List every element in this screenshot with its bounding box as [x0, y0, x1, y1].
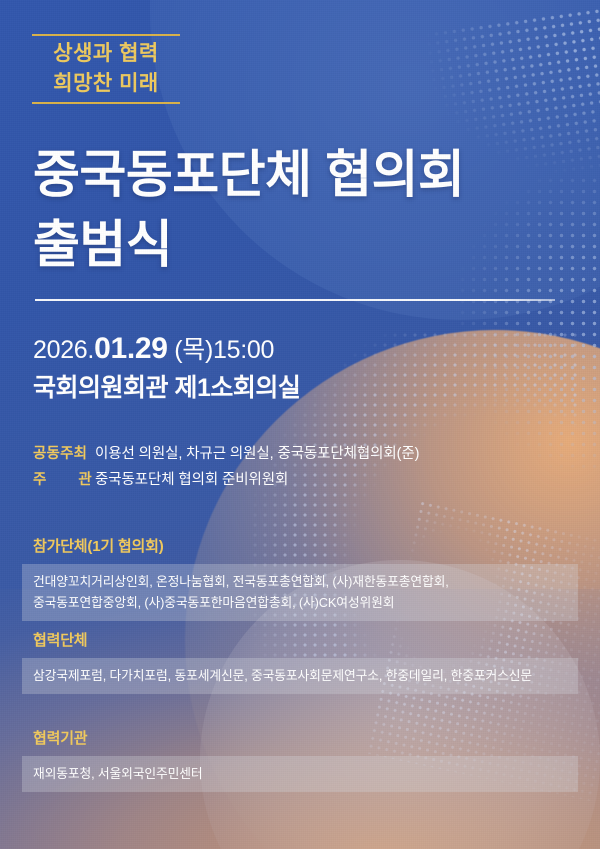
event-time: (목)15:00 [168, 336, 274, 364]
section-band-participants: 건대양꼬치거리상인회, 온정나눔협회, 전국동포총연합회, (사)재한동포총연합… [22, 564, 578, 621]
org-row: 재외동포청, 서울외국인주민센터 [33, 763, 567, 784]
host-value-organizer: 중국동포단체 협의회 준비위원회 [95, 467, 288, 493]
org-row: 중국동포연합중앙회, (사)중국동포한마음연합총회, (사)CK여성위원회 [33, 592, 567, 613]
tagline-line-2: 희망찬 미래 [32, 69, 180, 99]
section-agencies: 협력기관 재외동포청, 서울외국인주민센터 [0, 728, 600, 792]
host-value-cohost: 이용선 의원실, 차규근 의원실, 중국동포단체협의회(준) [95, 441, 419, 467]
event-datetime: 2026.01.29 (목)15:00 [33, 331, 274, 368]
poster-content: 상생과 협력 희망찬 미래 중국동포단체 협의회 출범식 2026.01.29 … [0, 0, 600, 849]
section-band-partners: 삼강국제포럼, 다가치포럼, 동포세계신문, 중국동포사회문제연구소, 한중데일… [22, 658, 578, 694]
section-heading-agencies: 협력기관 [33, 728, 600, 750]
section-heading-participants: 참가단체(1기 협의회) [33, 536, 600, 558]
event-venue: 국회의원회관 제1소회의실 [33, 370, 300, 406]
tagline-block: 상생과 협력 희망찬 미래 [32, 34, 180, 104]
host-list: 공동주최 이용선 의원실, 차규근 의원실, 중국동포단체협의회(준) 주 관 … [33, 441, 419, 493]
host-row-organizer: 주 관 중국동포단체 협의회 준비위원회 [33, 467, 419, 493]
event-poster: 상생과 협력 희망찬 미래 중국동포단체 협의회 출범식 2026.01.29 … [0, 0, 600, 849]
org-row: 삼강국제포럼, 다가치포럼, 동포세계신문, 중국동포사회문제연구소, 한중데일… [33, 665, 567, 686]
poster-title: 중국동포단체 협의회 출범식 [33, 140, 464, 280]
section-heading-partners: 협력단체 [33, 630, 600, 652]
poster-title-line-2: 출범식 [33, 210, 464, 280]
section-participants: 참가단체(1기 협의회) 건대양꼬치거리상인회, 온정나눔협회, 전국동포총연합… [0, 536, 600, 621]
org-row: 건대양꼬치거리상인회, 온정나눔협회, 전국동포총연합회, (사)재한동포총연합… [33, 571, 567, 592]
host-label-cohost: 공동주최 [33, 441, 95, 467]
title-divider-rule [35, 299, 555, 301]
poster-title-line-1: 중국동포단체 협의회 [33, 146, 464, 203]
host-label-organizer: 주 관 [33, 467, 95, 493]
host-row-cohost: 공동주최 이용선 의원실, 차규근 의원실, 중국동포단체협의회(준) [33, 441, 419, 467]
event-date-year: 2026. [33, 336, 94, 364]
event-date-day: 01.29 [94, 332, 168, 365]
tagline-line-1: 상생과 협력 [32, 39, 180, 69]
tagline-rule-bottom [32, 102, 180, 104]
section-partners: 협력단체 삼강국제포럼, 다가치포럼, 동포세계신문, 중국동포사회문제연구소,… [0, 630, 600, 694]
section-band-agencies: 재외동포청, 서울외국인주민센터 [22, 756, 578, 792]
